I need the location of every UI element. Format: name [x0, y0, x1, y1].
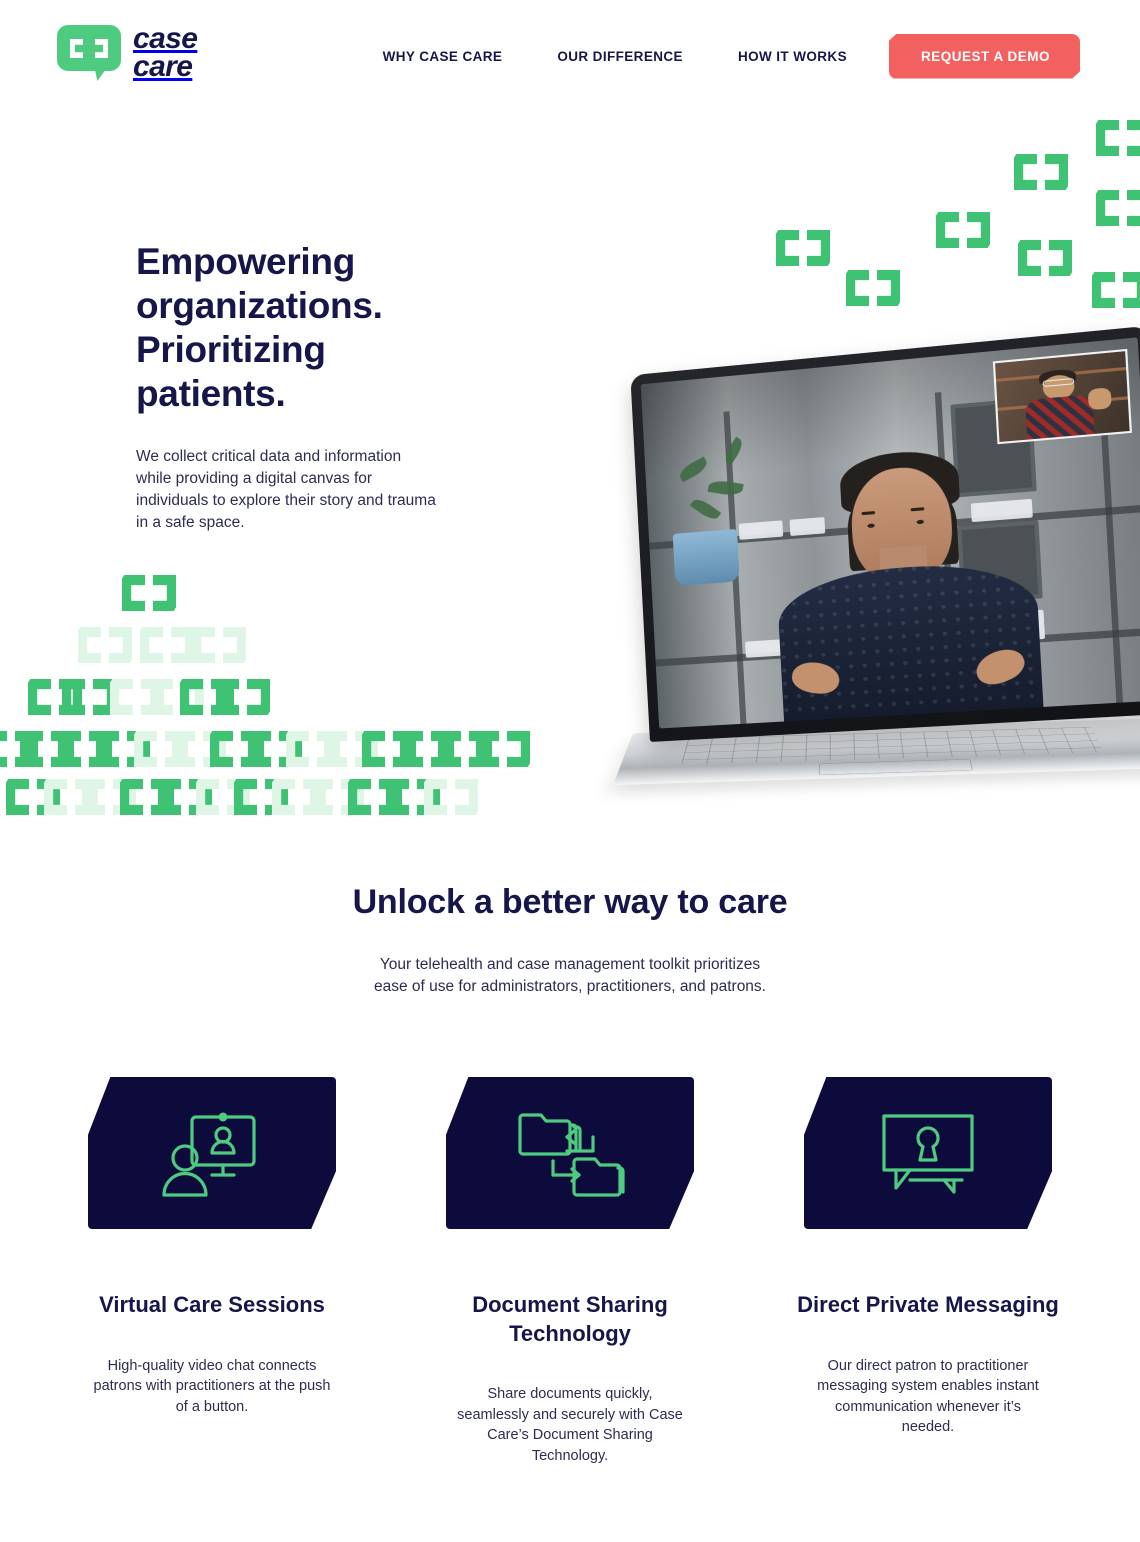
- brand-name-line2: care: [133, 53, 197, 81]
- hero-title: Empowering organizations. Prioritizing p…: [136, 240, 466, 416]
- video-call-participant-main: [770, 441, 1044, 721]
- nav-item-our-difference[interactable]: OUR DIFFERENCE: [557, 49, 683, 64]
- nav-item-how-it-works[interactable]: HOW IT WORKS: [738, 49, 847, 64]
- hero-copy: Empowering organizations. Prioritizing p…: [136, 240, 466, 533]
- laptop-lid: [630, 326, 1140, 742]
- features-subheading: Your telehealth and case management tool…: [370, 954, 770, 999]
- feature-icon-container: [804, 1077, 1052, 1229]
- decorative-pattern-bottom-left: [0, 575, 660, 825]
- case-care-logo-icon: [57, 25, 121, 81]
- feature-card-list: Virtual Care Sessions High-quality video…: [0, 1077, 1140, 1467]
- hero-laptop-image: [636, 374, 1140, 814]
- brand-logo[interactable]: case care: [57, 25, 197, 81]
- feature-card-body: High-quality video chat connects patrons…: [92, 1356, 332, 1418]
- feature-card-title: Virtual Care Sessions: [62, 1291, 362, 1320]
- site-header: case care WHY CASE CARE OUR DIFFERENCE H…: [0, 0, 1140, 112]
- video-call-participant-thumbnail: [993, 349, 1132, 444]
- laptop-trackpad: [818, 759, 973, 775]
- feature-icon-container: [446, 1077, 694, 1229]
- feature-icon-container: [88, 1077, 336, 1229]
- video-session-icon: [158, 1107, 266, 1199]
- feature-card-virtual-care-sessions[interactable]: Virtual Care Sessions High-quality video…: [62, 1077, 362, 1467]
- feature-card-title: Document Sharing Technology: [420, 1291, 720, 1348]
- features-heading: Unlock a better way to care: [0, 883, 1140, 922]
- feature-card-title: Direct Private Messaging: [778, 1291, 1078, 1320]
- feature-card-direct-private-messaging[interactable]: Direct Private Messaging Our direct patr…: [778, 1077, 1078, 1467]
- brand-name-line1: case: [133, 25, 197, 53]
- brand-wordmark: case care: [133, 25, 197, 80]
- secure-chat-icon: [874, 1110, 982, 1196]
- features-section: Unlock a better way to care Your telehea…: [0, 825, 1140, 1466]
- hero-subtitle: We collect critical data and information…: [136, 446, 436, 533]
- request-demo-button[interactable]: REQUEST A DEMO: [889, 34, 1080, 79]
- nav-item-why-case-care[interactable]: WHY CASE CARE: [383, 49, 503, 64]
- decorative-pattern-top-right: [720, 112, 1140, 312]
- feature-card-body: Our direct patron to practitioner messag…: [808, 1356, 1048, 1438]
- landing-page: case care WHY CASE CARE OUR DIFFERENCE H…: [0, 0, 1140, 1542]
- feature-card-document-sharing-technology[interactable]: Document Sharing Technology Share docume…: [420, 1077, 720, 1467]
- video-call-screen: [641, 337, 1140, 728]
- folder-exchange-icon: [515, 1105, 625, 1201]
- hero-section: Empowering organizations. Prioritizing p…: [0, 112, 1140, 825]
- main-navigation: WHY CASE CARE OUR DIFFERENCE HOW IT WORK…: [383, 0, 1080, 112]
- feature-card-body: Share documents quickly, seamlessly and …: [450, 1384, 690, 1466]
